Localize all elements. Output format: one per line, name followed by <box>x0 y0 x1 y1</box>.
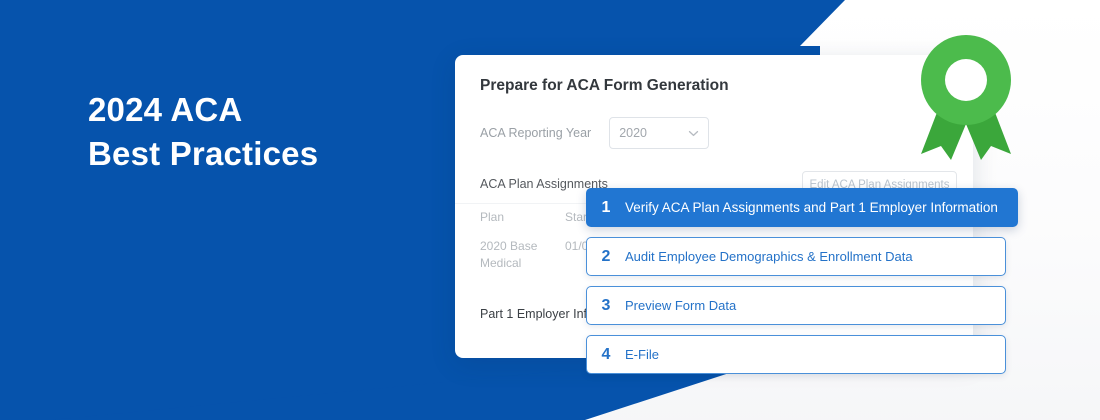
step-number: 2 <box>587 248 625 266</box>
step-item-2[interactable]: 2 Audit Employee Demographics & Enrollme… <box>586 237 1006 276</box>
step-label: Audit Employee Demographics & Enrollment… <box>625 249 913 264</box>
part1-employer-info-label: Part 1 Employer Inf <box>480 307 587 321</box>
page-title: 2024 ACA Best Practices <box>88 88 318 175</box>
step-label: Preview Form Data <box>625 298 736 313</box>
step-label: Verify ACA Plan Assignments and Part 1 E… <box>625 200 998 215</box>
step-number: 4 <box>587 346 625 364</box>
card-title: Prepare for ACA Form Generation <box>480 77 729 95</box>
reporting-year-label: ACA Reporting Year <box>480 126 591 140</box>
step-item-3[interactable]: 3 Preview Form Data <box>586 286 1006 325</box>
banner-stage: 2024 ACA Best Practices Prepare for ACA … <box>0 0 1100 420</box>
reporting-year-value: 2020 <box>619 126 647 140</box>
cell-plan: 2020 Base Medical <box>480 238 565 273</box>
column-header-plan: Plan <box>480 210 565 224</box>
headline-line-1: 2024 ACA <box>88 91 242 128</box>
award-ribbon-icon <box>915 32 1017 162</box>
step-number: 1 <box>587 199 625 217</box>
step-number: 3 <box>587 297 625 315</box>
headline-line-2: Best Practices <box>88 132 318 176</box>
reporting-year-row: ACA Reporting Year 2020 <box>480 117 709 149</box>
steps-list: 1 Verify ACA Plan Assignments and Part 1… <box>586 188 1006 384</box>
step-label: E-File <box>625 347 659 362</box>
step-item-1[interactable]: 1 Verify ACA Plan Assignments and Part 1… <box>586 188 1018 227</box>
step-item-4[interactable]: 4 E-File <box>586 335 1006 374</box>
chevron-down-icon <box>688 128 699 139</box>
reporting-year-select[interactable]: 2020 <box>609 117 709 149</box>
